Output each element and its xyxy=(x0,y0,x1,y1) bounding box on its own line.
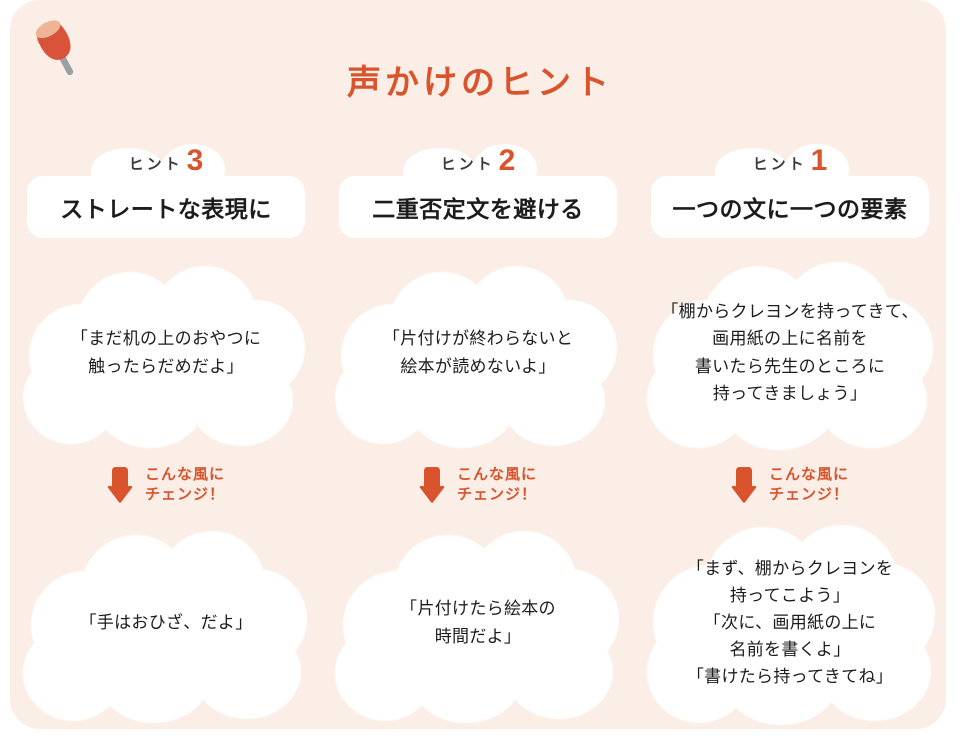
before-text: 「片付けが終わらないと 絵本が読めないよ」 xyxy=(383,325,573,381)
hint-header-card: ヒント 2 二重否定文を避ける xyxy=(339,144,617,238)
hint-number: 1 xyxy=(811,146,828,176)
before-text: 「棚からクレヨンを持ってきて、 画用紙の上に名前を 書いたら先生のところに 持っ… xyxy=(661,298,918,407)
before-bubble: 「まだ机の上のおやつに 触ったらだめだよ」 xyxy=(23,260,309,445)
hint-number: 3 xyxy=(187,146,204,176)
after-bubble: 「手はおひざ、だよ」 xyxy=(23,525,309,720)
hint-header-card: ヒント 1 一つの文に一つの要素 xyxy=(651,144,929,238)
hint-title: 一つの文に一つの要素 xyxy=(651,176,929,238)
after-text: 「手はおひざ、だよ」 xyxy=(80,609,253,637)
hint-title: 二重否定文を避ける xyxy=(339,176,617,238)
arrow-down-icon xyxy=(419,466,445,504)
change-label: こんな風に チェンジ！ xyxy=(769,465,849,506)
before-text: 「まだ机の上のおやつに 触ったらだめだよ」 xyxy=(71,325,261,381)
hint-header-card: ヒント 3 ストレートな表現に xyxy=(27,144,305,238)
change-label: こんな風に チェンジ！ xyxy=(457,465,537,506)
hint-label: ヒント xyxy=(441,153,495,176)
before-bubble: 「棚からクレヨンを持ってきて、 画用紙の上に名前を 書いたら先生のところに 持っ… xyxy=(647,260,933,445)
hint-header-top: ヒント 1 xyxy=(651,144,929,176)
pushpin-icon xyxy=(22,12,92,84)
arrow-down-icon xyxy=(107,466,133,504)
hint-column: ヒント 1 一つの文に一つの要素 「棚からクレヨンを持ってきて、 画用紙の上に名… xyxy=(634,120,946,720)
change-indicator: こんな風に チェンジ！ xyxy=(647,445,933,525)
infographic-root: 声かけのヒント ヒント 3 ストレートな表現に xyxy=(0,0,960,754)
hint-label: ヒント xyxy=(129,153,183,176)
hint-header-top: ヒント 3 xyxy=(27,144,305,176)
before-bubble: 「片付けが終わらないと 絵本が読めないよ」 xyxy=(335,260,621,445)
arrow-down-icon xyxy=(731,466,757,504)
change-indicator: こんな風に チェンジ！ xyxy=(335,445,621,525)
after-bubble: 「まず、棚からクレヨンを 持ってこよう」 「次に、画用紙の上に 名前を書くよ」 … xyxy=(647,525,933,720)
hint-column: ヒント 3 ストレートな表現に 「まだ机の上のおやつに 触ったらだめだよ」 xyxy=(10,120,322,720)
page-title: 声かけのヒント xyxy=(0,55,960,104)
hint-column: ヒント 2 二重否定文を避ける 「片付けが終わらないと 絵本が読めないよ」 xyxy=(322,120,634,720)
hint-title: ストレートな表現に xyxy=(27,176,305,238)
after-text: 「片付けたら絵本の 時間だよ」 xyxy=(400,595,556,651)
change-indicator: こんな風に チェンジ！ xyxy=(23,445,309,525)
change-label: こんな風に チェンジ！ xyxy=(145,465,225,506)
after-text: 「まず、棚からクレヨンを 持ってこよう」 「次に、画用紙の上に 名前を書くよ」 … xyxy=(687,555,893,691)
hint-header-top: ヒント 2 xyxy=(339,144,617,176)
hint-columns: ヒント 3 ストレートな表現に 「まだ机の上のおやつに 触ったらだめだよ」 xyxy=(10,120,946,720)
hint-label: ヒント xyxy=(753,153,807,176)
after-bubble: 「片付けたら絵本の 時間だよ」 xyxy=(335,525,621,720)
hint-number: 2 xyxy=(499,146,516,176)
